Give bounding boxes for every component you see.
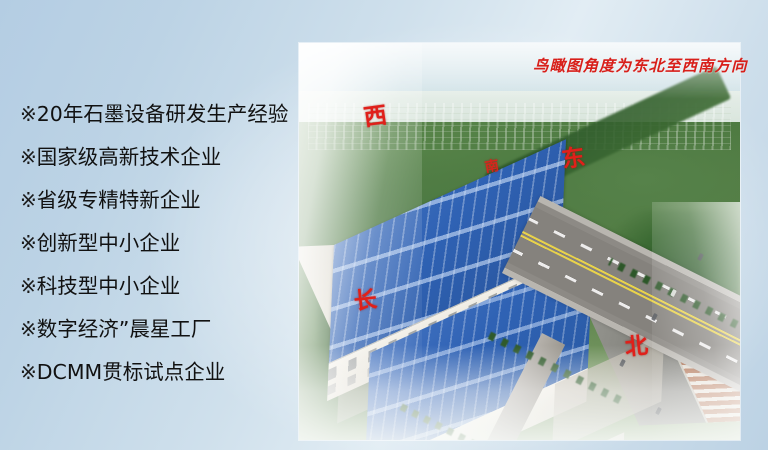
list-item-label: 创新型中小企业	[37, 233, 181, 254]
list-item-label: 20年石墨设备研发生产经验	[37, 104, 289, 125]
list-item: ※ 国家级高新技术企业	[20, 147, 302, 190]
list-item: ※ DCMM贯标试点企业	[20, 362, 302, 405]
bullet-marker-icon: ※	[20, 147, 37, 167]
bullet-marker-icon: ※	[20, 104, 37, 124]
bullet-marker-icon: ※	[20, 276, 37, 296]
list-item: ※ 科技型中小企业	[20, 276, 302, 319]
direction-label-east: 东	[561, 147, 587, 173]
factory-aerial-rendering: 西 东 长 北 南	[299, 43, 740, 440]
aerial-view-caption: 鸟瞰图角度为东北至西南方向	[533, 54, 748, 76]
bullet-marker-icon: ※	[20, 319, 37, 339]
list-item: ※ 20年石墨设备研发生产经验	[20, 104, 302, 147]
direction-label-length: 长	[353, 289, 378, 314]
direction-label-south: 南	[484, 159, 500, 175]
list-item-label: 国家级高新技术企业	[37, 147, 222, 168]
list-item: ※ 省级专精特新企业	[20, 190, 302, 233]
bullet-marker-icon: ※	[20, 233, 37, 253]
list-item: ※ 数字经济”晨星工厂	[20, 319, 302, 362]
direction-label-west: 西	[363, 105, 389, 131]
bullet-marker-icon: ※	[20, 362, 37, 382]
list-item-label: 数字经济”晨星工厂	[37, 319, 212, 340]
direction-label-north: 北	[624, 335, 649, 360]
fog-overlay-bottom	[299, 345, 740, 440]
bullet-marker-icon: ※	[20, 190, 37, 210]
list-item-label: DCMM贯标试点企业	[37, 362, 225, 383]
list-item-label: 省级专精特新企业	[37, 190, 201, 211]
company-credentials-list: ※ 20年石墨设备研发生产经验 ※ 国家级高新技术企业 ※ 省级专精特新企业 ※…	[20, 104, 302, 405]
list-item-label: 科技型中小企业	[37, 276, 181, 297]
list-item: ※ 创新型中小企业	[20, 233, 302, 276]
